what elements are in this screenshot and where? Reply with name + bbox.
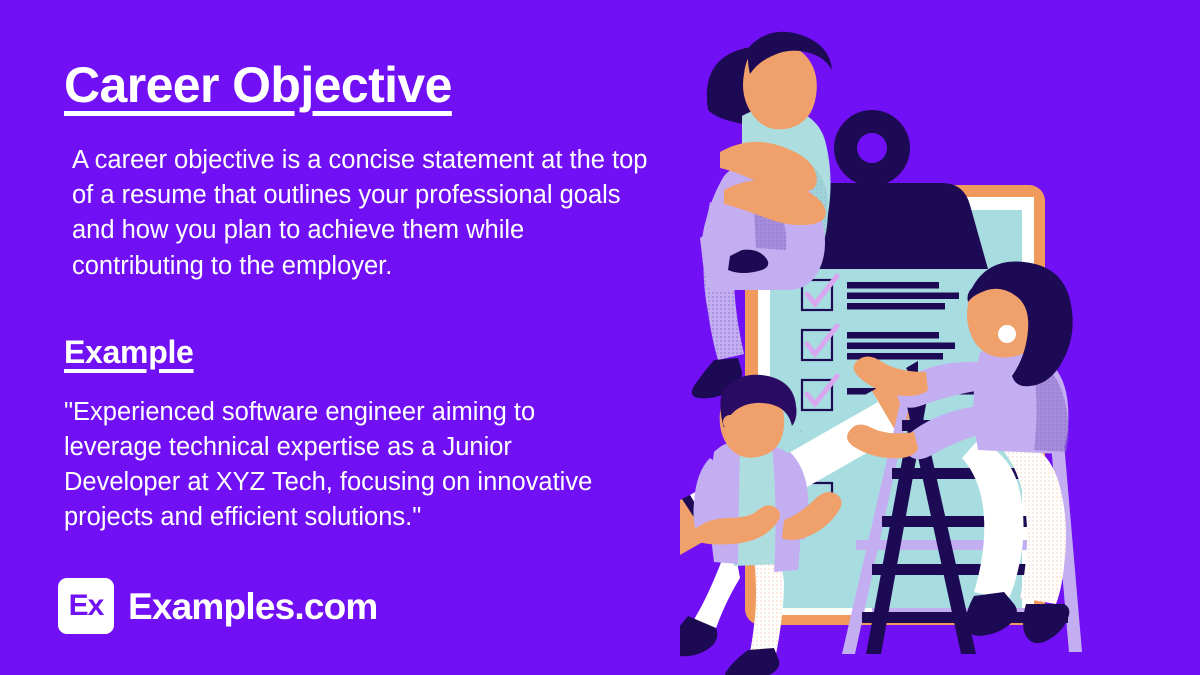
illustration-people-checklist: [680, 0, 1200, 675]
brand-logo[interactable]: Ex Examples.com: [58, 578, 378, 634]
slide-canvas: Career Objective A career objective is a…: [0, 0, 1200, 675]
logo-brand-text: Examples.com: [128, 588, 378, 625]
text-content-column: Career Objective A career objective is a…: [64, 58, 684, 536]
logo-badge-text: Ex: [69, 591, 104, 621]
example-quote: "Experienced software engineer aiming to…: [64, 395, 624, 536]
example-heading: Example: [64, 334, 194, 371]
logo-badge-icon: Ex: [58, 578, 114, 634]
intro-paragraph: A career objective is a concise statemen…: [72, 143, 662, 284]
page-title: Career Objective: [64, 58, 684, 113]
